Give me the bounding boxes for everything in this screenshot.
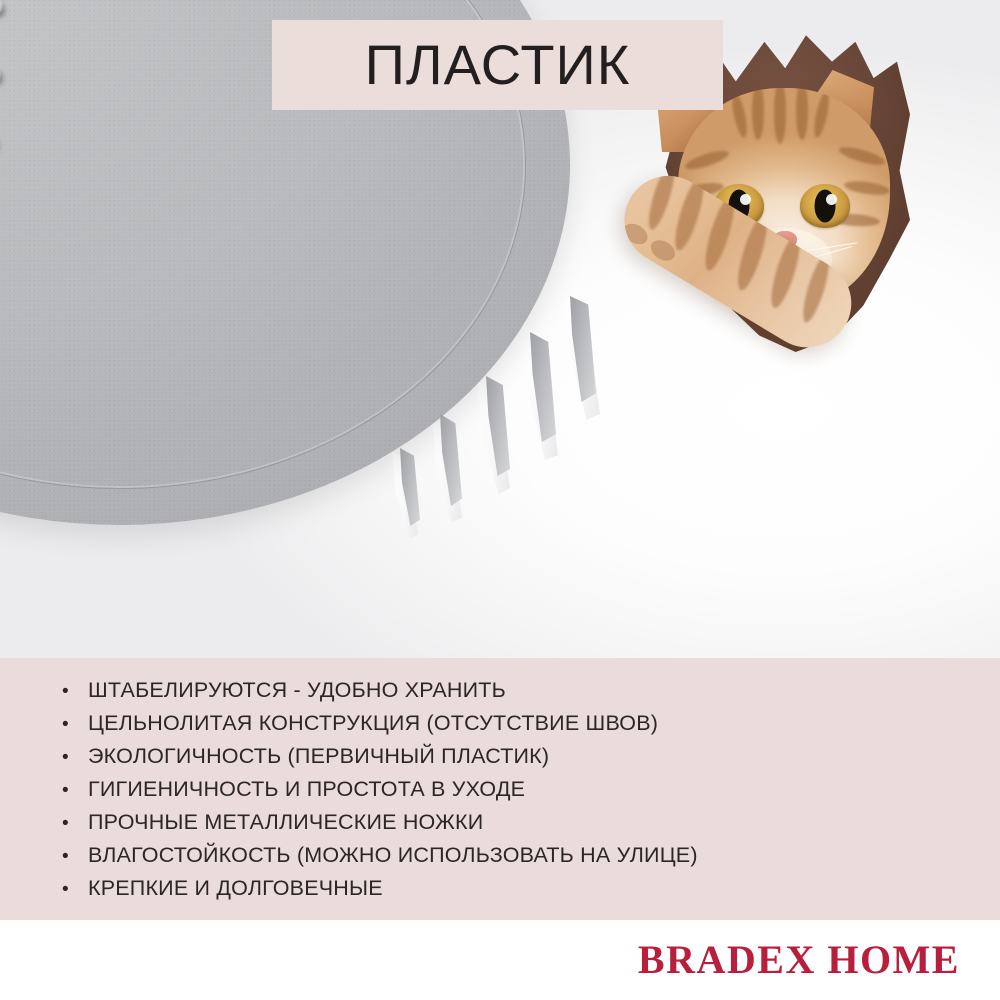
footer: BRADEX HOME bbox=[0, 920, 1000, 1000]
cat-eye-glint-left bbox=[740, 194, 751, 205]
page-title: ПЛАСТИК bbox=[365, 37, 631, 93]
list-item: • ШТАБЕЛИРУЮТСЯ - УДОБНО ХРАНИТЬ bbox=[62, 674, 698, 707]
feature-list: • ШТАБЕЛИРУЮТСЯ - УДОБНО ХРАНИТЬ • ЦЕЛЬН… bbox=[62, 674, 698, 905]
hero-photo-area: ПЛАСТИК bbox=[0, 0, 1000, 658]
features-panel: • ШТАБЕЛИРУЮТСЯ - УДОБНО ХРАНИТЬ • ЦЕЛЬН… bbox=[0, 658, 1000, 920]
list-item: • ПРОЧНЫЕ МЕТАЛЛИЧЕСКИЕ НОЖКИ bbox=[62, 806, 698, 839]
list-item: • ВЛАГОСТОЙКОСТЬ (МОЖНО ИСПОЛЬЗОВАТЬ НА … bbox=[62, 839, 698, 872]
title-banner: ПЛАСТИК bbox=[272, 20, 723, 110]
cat-eye-glint-right bbox=[826, 194, 837, 205]
brand-logo: BRADEX HOME bbox=[638, 936, 960, 983]
bullet-icon: • bbox=[62, 708, 88, 741]
feature-label: ШТАБЕЛИРУЮТСЯ - УДОБНО ХРАНИТЬ bbox=[88, 674, 506, 707]
list-item: • ЭКОЛОГИЧНОСТЬ (ПЕРВИЧНЫЙ ПЛАСТИК) bbox=[62, 740, 698, 773]
list-item: • КРЕПКИЕ И ДОЛГОВЕЧНЫЕ bbox=[62, 872, 698, 905]
list-item: • ЦЕЛЬНОЛИТАЯ КОНСТРУКЦИЯ (ОТСУТСТВИЕ ШВ… bbox=[62, 707, 698, 740]
bullet-icon: • bbox=[62, 840, 88, 873]
feature-label: ГИГИЕНИЧНОСТЬ И ПРОСТОТА В УХОДЕ bbox=[88, 773, 525, 806]
cat-eye-right bbox=[800, 184, 850, 228]
bullet-icon: • bbox=[62, 741, 88, 774]
list-item: • ГИГИЕНИЧНОСТЬ И ПРОСТОТА В УХОДЕ bbox=[62, 773, 698, 806]
poster-canvas: ПЛАСТИК • ШТАБЕЛИРУЮТСЯ - УДОБНО ХРАНИТЬ… bbox=[0, 0, 1000, 1000]
bullet-icon: • bbox=[62, 774, 88, 807]
feature-label: ЭКОЛОГИЧНОСТЬ (ПЕРВИЧНЫЙ ПЛАСТИК) bbox=[88, 740, 549, 773]
bullet-icon: • bbox=[62, 807, 88, 840]
feature-label: ПРОЧНЫЕ МЕТАЛЛИЧЕСКИЕ НОЖКИ bbox=[88, 806, 483, 839]
feature-label: КРЕПКИЕ И ДОЛГОВЕЧНЫЕ bbox=[88, 872, 383, 905]
feature-label: ВЛАГОСТОЙКОСТЬ (МОЖНО ИСПОЛЬЗОВАТЬ НА УЛ… bbox=[88, 839, 698, 872]
feature-label: ЦЕЛЬНОЛИТАЯ КОНСТРУКЦИЯ (ОТСУТСТВИЕ ШВОВ… bbox=[88, 707, 658, 740]
bullet-icon: • bbox=[62, 873, 88, 906]
bullet-icon: • bbox=[62, 675, 88, 708]
